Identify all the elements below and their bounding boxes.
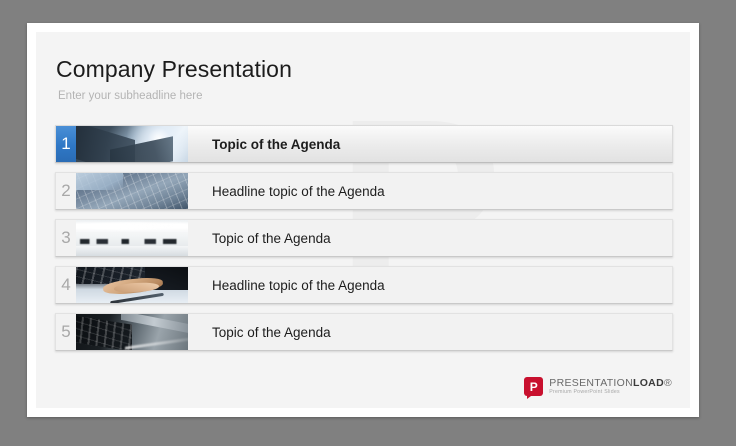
logo-mark-letter: P	[530, 381, 538, 393]
agenda-label-1: Topic of the Agenda	[188, 126, 672, 162]
agenda-number-5: 5	[56, 314, 76, 350]
agenda-label-3: Topic of the Agenda	[188, 220, 672, 256]
slide-outer-frame: P Company Presentation Enter your subhea…	[27, 23, 699, 417]
presentationload-logo: P PRESENTATIONLOAD® Premium PowerPoint S…	[524, 377, 672, 396]
agenda-number-1: 1	[56, 126, 76, 162]
agenda-label-4: Headline topic of the Agenda	[188, 267, 672, 303]
page-title: Company Presentation	[56, 55, 656, 83]
logo-name-bold: LOAD	[633, 377, 664, 389]
agenda-label-2: Headline topic of the Agenda	[188, 173, 672, 209]
agenda-row-2[interactable]: 2 Headline topic of the Agenda	[55, 172, 673, 210]
agenda-label-5: Topic of the Agenda	[188, 314, 672, 350]
laptop-closeup-image	[76, 314, 188, 350]
agenda-row-1[interactable]: 1 Topic of the Agenda	[55, 125, 673, 163]
logo-name-light: PRESENTATION	[549, 377, 633, 389]
page-subtitle: Enter your subheadline here	[58, 89, 656, 103]
logo-name: PRESENTATIONLOAD®	[549, 378, 672, 389]
agenda-number-4: 4	[56, 267, 76, 303]
agenda-number-2: 2	[56, 173, 76, 209]
slide-header: Company Presentation Enter your subheadl…	[56, 55, 656, 103]
agenda-row-3[interactable]: 3 Topic of the Agenda	[55, 219, 673, 257]
glass-facade-image	[76, 173, 188, 209]
slide-canvas: P Company Presentation Enter your subhea…	[36, 32, 690, 408]
logo-tagline: Premium PowerPoint Slides	[549, 390, 672, 395]
skyscraper-sunflare-image	[76, 126, 188, 162]
handshake-keyboard-image	[76, 267, 188, 303]
logo-trademark: ®	[664, 377, 672, 389]
conference-room-image	[76, 220, 188, 256]
agenda-row-4[interactable]: 4 Headline topic of the Agenda	[55, 266, 673, 304]
speech-bubble-icon: P	[524, 377, 543, 396]
agenda-row-5[interactable]: 5 Topic of the Agenda	[55, 313, 673, 351]
agenda-list: 1 Topic of the Agenda 2 Headline topic o…	[55, 125, 673, 360]
logo-wordmark: PRESENTATIONLOAD® Premium PowerPoint Sli…	[549, 378, 672, 395]
agenda-number-3: 3	[56, 220, 76, 256]
